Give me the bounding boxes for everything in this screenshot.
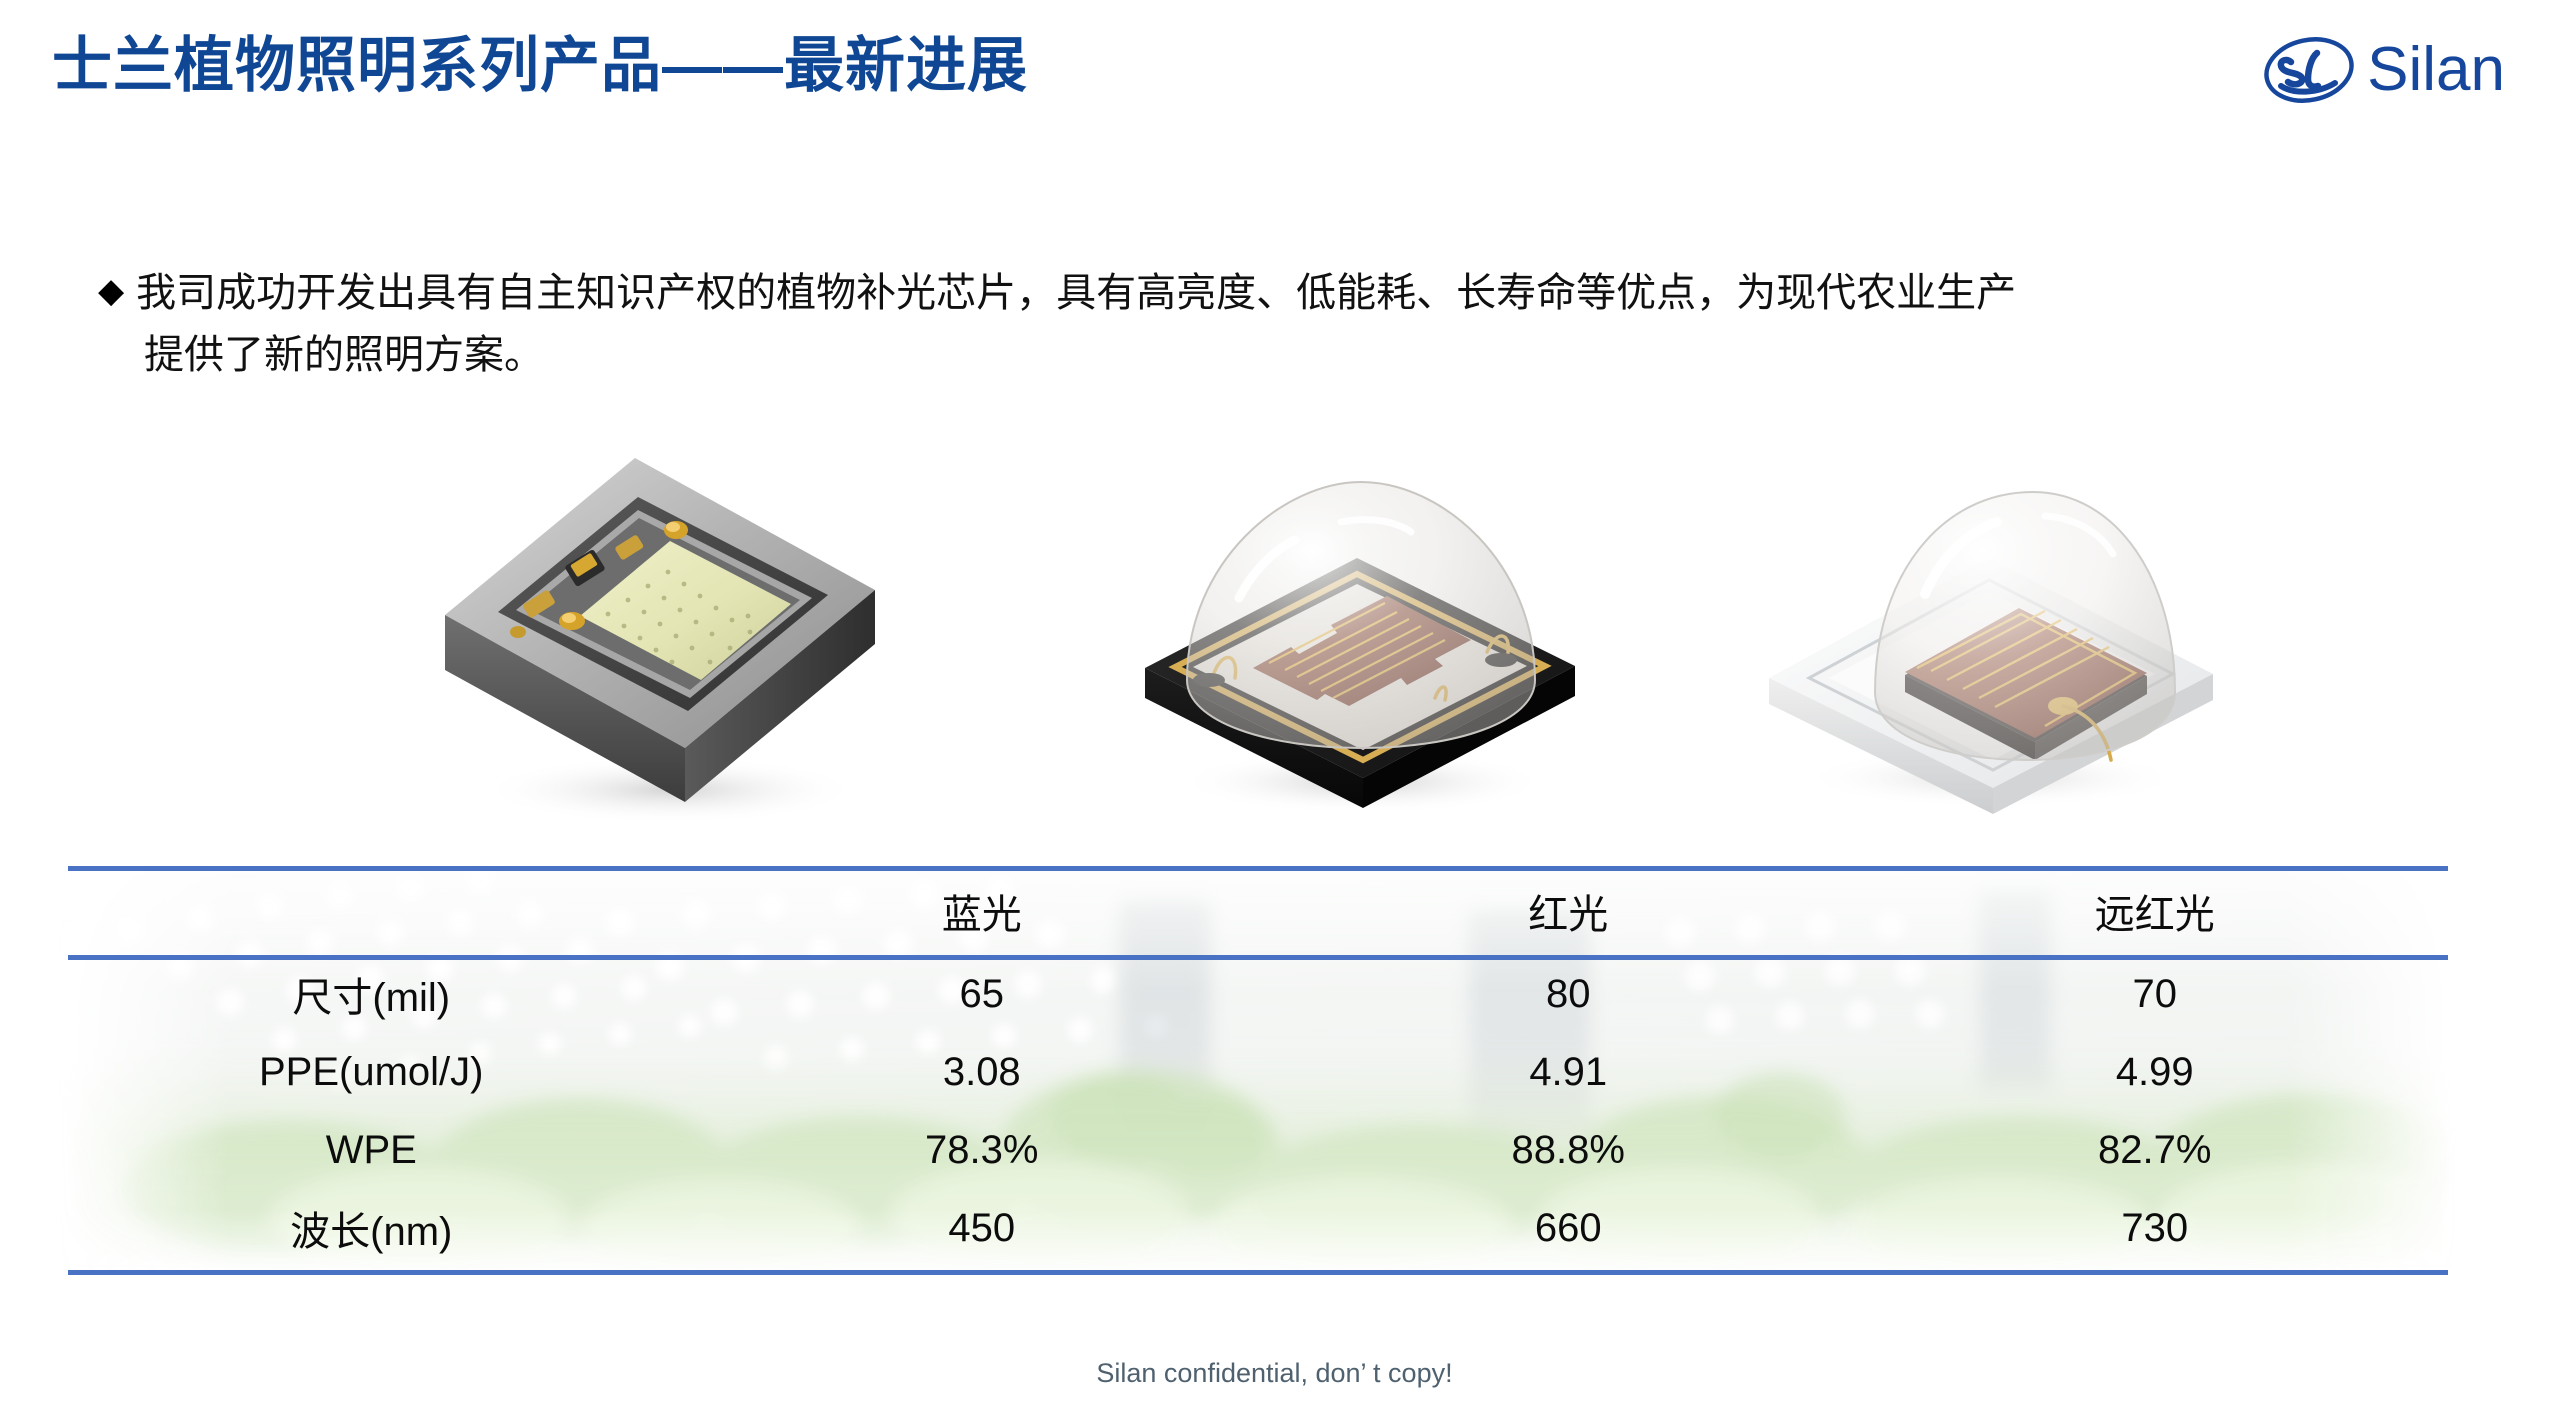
cell-wpe-red: 88.8% <box>1275 1111 1861 1189</box>
table-header-row: 蓝光 红光 远红光 <box>68 866 2448 955</box>
cell-ppe-red: 4.91 <box>1275 1033 1861 1111</box>
cell-wavelength-far-red: 730 <box>1861 1189 2448 1267</box>
cell-ppe-far-red: 4.99 <box>1861 1033 2448 1111</box>
table-row: PPE(umol/J) 3.08 4.91 4.99 <box>68 1033 2448 1111</box>
table-top-rule <box>68 866 2448 871</box>
cell-size-blue: 65 <box>689 955 1275 1033</box>
cell-size-red: 80 <box>1275 955 1861 1033</box>
sl-monogram-icon <box>2261 34 2357 106</box>
table-header-far-red: 远红光 <box>1861 866 2448 955</box>
diamond-bullet-icon: ◆ <box>98 262 124 320</box>
silan-logo: Silan <box>2261 34 2505 106</box>
product-image-row <box>0 430 2549 850</box>
table-header-rule <box>68 955 2448 960</box>
table-row: 尺寸(mil) 65 80 70 <box>68 955 2448 1033</box>
bullet-text-line-1: 我司成功开发出具有自主知识产权的植物补光芯片，具有高亮度、低能耗、长寿命等优点，… <box>136 262 2478 324</box>
cell-wpe-blue: 78.3% <box>689 1111 1275 1189</box>
cell-wavelength-blue: 450 <box>689 1189 1275 1267</box>
spec-table: 蓝光 红光 远红光 尺寸(mil) 65 80 70 PPE(umol/J) 3… <box>68 866 2448 1267</box>
confidential-footer: Silan confidential, don’ t copy! <box>0 1358 2549 1389</box>
body-bullet-block: ◆ 我司成功开发出具有自主知识产权的植物补光芯片，具有高亮度、低能耗、长寿命等优… <box>98 262 2478 386</box>
product-image-red-led <box>1135 430 1585 830</box>
row-label-ppe: PPE(umol/J) <box>68 1033 689 1111</box>
row-label-wpe: WPE <box>68 1111 689 1189</box>
product-image-far-red-led <box>1745 430 2235 825</box>
table-header-corner <box>68 866 689 955</box>
table-header-blue: 蓝光 <box>689 866 1275 955</box>
table-row: WPE 78.3% 88.8% 82.7% <box>68 1111 2448 1189</box>
table-bottom-rule <box>68 1270 2448 1275</box>
row-label-wavelength: 波长(nm) <box>68 1189 689 1267</box>
row-label-size: 尺寸(mil) <box>68 955 689 1033</box>
bullet-text-line-2: 提供了新的照明方案。 <box>144 324 2478 386</box>
spec-table-region: 蓝光 红光 远红光 尺寸(mil) 65 80 70 PPE(umol/J) 3… <box>68 866 2448 1274</box>
logo-wordmark: Silan <box>2367 39 2505 101</box>
table-header-red: 红光 <box>1275 866 1861 955</box>
bullet-line-1: ◆ 我司成功开发出具有自主知识产权的植物补光芯片，具有高亮度、低能耗、长寿命等优… <box>98 262 2478 324</box>
cell-ppe-blue: 3.08 <box>689 1033 1275 1111</box>
page-title: 士兰植物照明系列产品——最新进展 <box>52 28 1028 103</box>
slide-canvas: 士兰植物照明系列产品——最新进展 Silan ◆ 我司成功开发出具有自主知识产权… <box>0 0 2549 1409</box>
cell-wpe-far-red: 82.7% <box>1861 1111 2448 1189</box>
cell-wavelength-red: 660 <box>1275 1189 1861 1267</box>
table-row: 波长(nm) 450 660 730 <box>68 1189 2448 1267</box>
cell-size-far-red: 70 <box>1861 955 2448 1033</box>
product-image-blue-led <box>420 430 900 840</box>
